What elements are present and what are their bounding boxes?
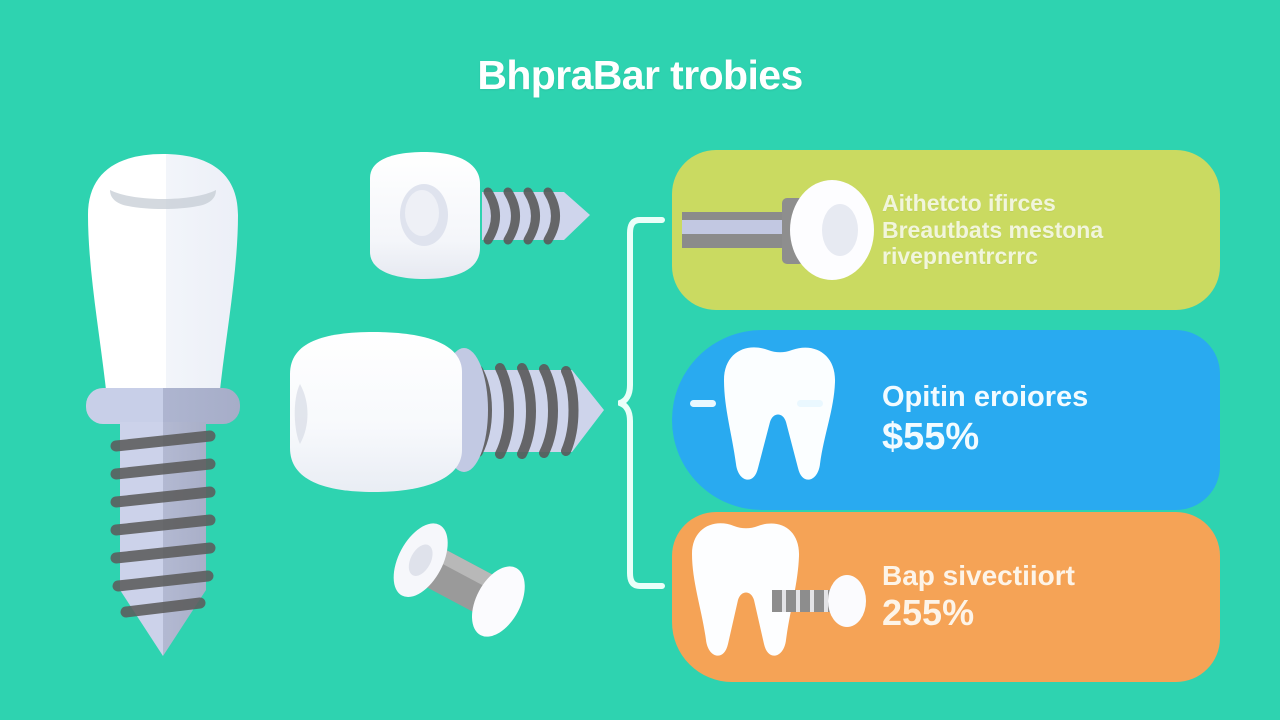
implant-crown-shape xyxy=(88,154,238,390)
curly-brace-connector xyxy=(618,215,668,590)
implant-screw-shape xyxy=(116,422,210,656)
panel-blue-text-block: Opitin eroiores $55% xyxy=(882,381,1220,459)
panel-green-line-3: rivepnentrcrrc xyxy=(882,243,1198,270)
panel-bap-selection[interactable]: Bap sivectiiort 255% xyxy=(672,512,1220,682)
crown-with-implant-screw-illustration xyxy=(282,322,622,502)
page-title: BhpraBar trobies xyxy=(0,52,1280,99)
panel-orange-text-block: Bap sivectiiort 255% xyxy=(882,560,1220,634)
panel-option-errors[interactable]: Opitin eroiores $55% xyxy=(672,330,1220,510)
dental-implant-illustration xyxy=(48,140,278,670)
tooth-with-screw-icon xyxy=(672,512,882,682)
panel-aesthetic-benefits[interactable]: Aithetcto ifirces Breautbats mestona riv… xyxy=(672,150,1220,310)
panel-green-text-block: Aithetcto ifirces Breautbats mestona riv… xyxy=(882,190,1220,270)
panel-blue-line-1: Opitin eroiores xyxy=(882,381,1198,415)
implant-collar xyxy=(86,388,240,424)
panel-blue-value: $55% xyxy=(882,415,1198,459)
panel-orange-line-1: Bap sivectiiort xyxy=(882,560,1198,592)
panel-green-line-2: Breautbats mestona xyxy=(882,217,1198,244)
panel-green-line-1: Aithetcto ifirces xyxy=(882,190,1198,217)
healing-abutment-spool-illustration xyxy=(370,508,550,653)
panel-orange-value: 255% xyxy=(882,592,1198,634)
abutment-cap-with-screw-illustration xyxy=(352,148,622,283)
infographic-canvas: BhpraBar trobies xyxy=(0,0,1280,720)
tooth-icon xyxy=(672,330,882,510)
tooth-dash-right xyxy=(797,400,823,407)
abutment-post-icon xyxy=(672,150,882,310)
tooth-dash-left xyxy=(690,400,716,407)
